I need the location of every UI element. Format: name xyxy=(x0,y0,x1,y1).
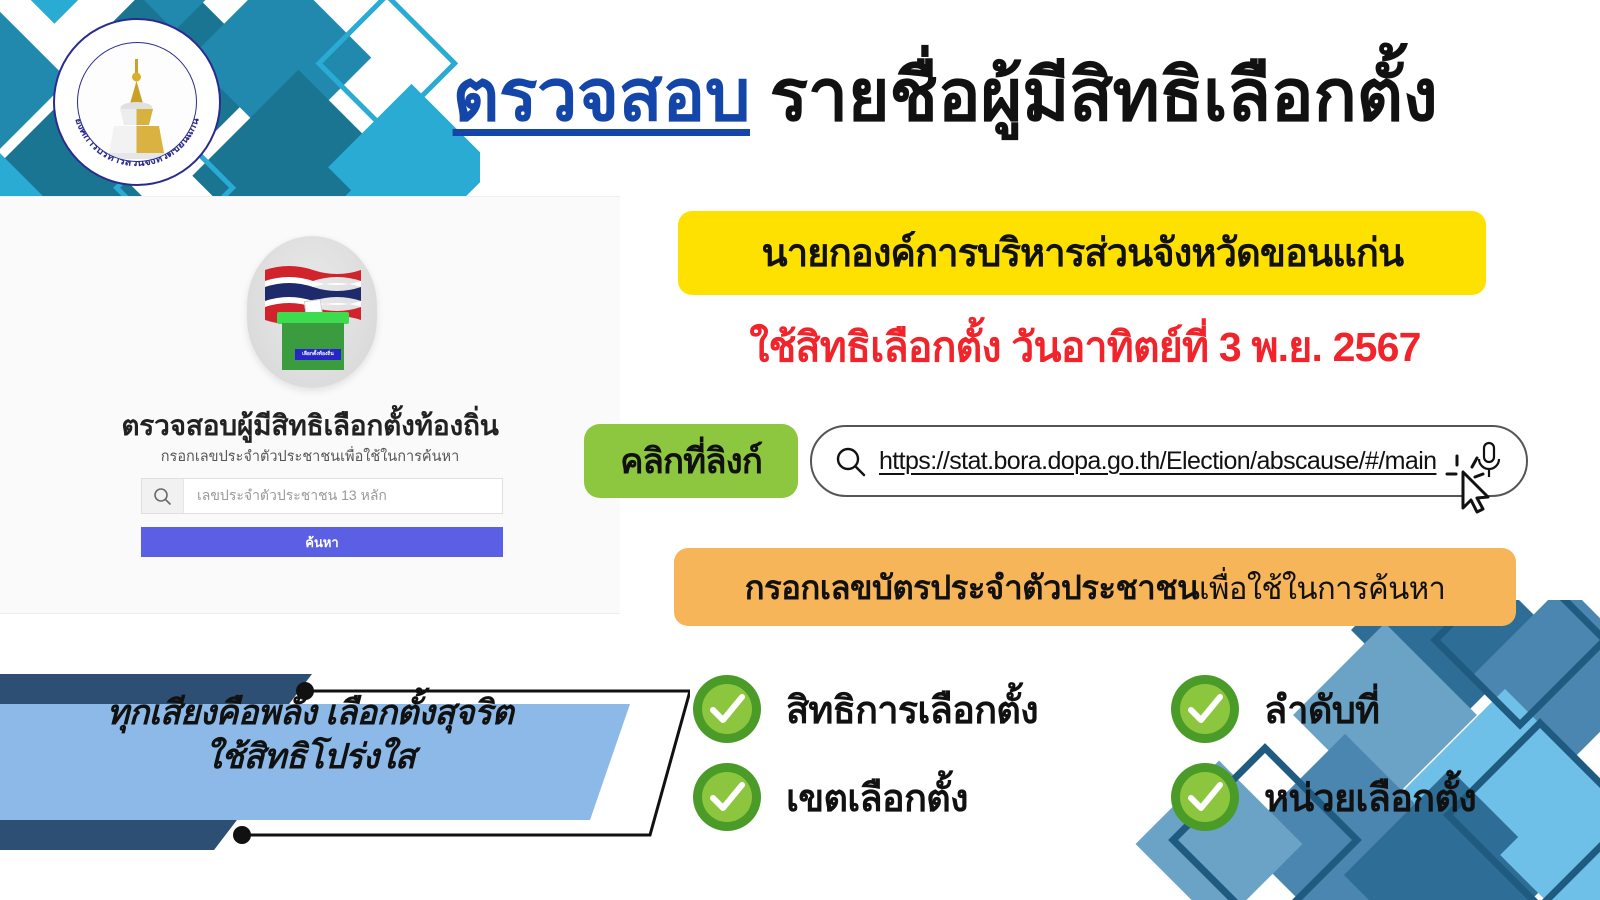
office-banner-label: นายกองค์การบริหารส่วนจังหวัดขอนแก่น xyxy=(761,222,1403,284)
website-mockup: เลือกตั้งท้องถิ่น ตรวจสอบผู้มีสิทธิเลือก… xyxy=(0,196,620,614)
checklist-item-0: สิทธิการเลือกตั้ง xyxy=(690,672,1038,746)
page-title: ตรวจสอบ รายชื่อผู้มีสิทธิเลือกตั้ง xyxy=(300,58,1590,134)
citizen-id-input[interactable]: เลขประจำตัวประชาชน 13 หลัก xyxy=(141,478,503,514)
office-banner: นายกองค์การบริหารส่วนจังหวัดขอนแก่น xyxy=(678,211,1486,295)
logo: องค์การบริหารส่วนจังหวัดขอนแก่น xyxy=(53,18,221,186)
mockup-subtitle: กรอกเลขประจำตัวประชาชนเพื่อใช้ในการค้นหา xyxy=(0,445,620,468)
slogan-text: ทุกเสียงคือพลัง เลือกตั้งสุจริต ใช้สิทธิ… xyxy=(0,692,630,779)
checklist-label: สิทธิการเลือกตั้ง xyxy=(786,679,1038,740)
check-circle-icon xyxy=(690,760,764,834)
mockup-search-button[interactable]: ค้นหา xyxy=(141,527,503,557)
magnifier-icon xyxy=(834,445,867,478)
slogan-banner: ทุกเสียงคือพลัง เลือกตั้งสุจริต ใช้สิทธิ… xyxy=(0,662,690,862)
ballot-label: เลือกตั้งท้องถิ่น xyxy=(295,349,341,360)
page-title-highlight: ตรวจสอบ xyxy=(453,56,750,136)
mockup-title: ตรวจสอบผู้มีสิทธิเลือกตั้งท้องถิ่น xyxy=(0,404,620,448)
browser-url-bar[interactable]: https://stat.bora.dopa.go.th/Election/ab… xyxy=(810,425,1528,497)
citizen-id-placeholder: เลขประจำตัวประชาชน 13 หลัก xyxy=(184,485,387,507)
infographic-canvas: องค์การบริหารส่วนจังหวัดขอนแก่น ตรวจสอบ … xyxy=(0,0,1600,900)
decoration-bottom-right xyxy=(1130,600,1600,900)
checklist-label: เขตเลือกตั้ง xyxy=(786,767,968,828)
slogan-line-2: ใช้สิทธิโปร่งใส xyxy=(0,736,630,780)
ballot-box: เลือกตั้งท้องถิ่น xyxy=(277,312,349,370)
checklist-item-3: หน่วยเลือกตั้ง xyxy=(1168,760,1476,834)
stupa-icon xyxy=(94,57,180,161)
ballot-body: เลือกตั้งท้องถิ่น xyxy=(282,323,344,370)
check-circle-icon xyxy=(1168,760,1242,834)
url-text[interactable]: https://stat.bora.dopa.go.th/Election/ab… xyxy=(879,447,1436,476)
logo-inner-circle xyxy=(77,42,197,162)
checklist-item-1: ลำดับที่ xyxy=(1168,672,1379,746)
instruction-banner: กรอกเลขบัตรประจำตัวประชาชนเพื่อใช้ในการค… xyxy=(674,548,1516,626)
checklist-label: ลำดับที่ xyxy=(1264,679,1379,740)
check-circle-icon xyxy=(690,672,764,746)
mouse-cursor-click-icon xyxy=(1443,452,1513,522)
check-circle-icon xyxy=(1168,672,1242,746)
click-link-badge: คลิกที่ลิงก์ xyxy=(584,424,798,498)
search-icon xyxy=(142,479,184,513)
instruction-bold: กรอกเลขบัตรประจำตัวประชาชน xyxy=(745,569,1199,606)
click-link-label: คลิกที่ลิงก์ xyxy=(620,434,762,489)
instruction-rest: เพื่อใช้ในการค้นหา xyxy=(1199,571,1445,606)
checklist-label: หน่วยเลือกตั้ง xyxy=(1264,767,1476,828)
checklist-item-2: เขตเลือกตั้ง xyxy=(690,760,968,834)
ballot-box-icon: เลือกตั้งท้องถิ่น xyxy=(247,236,377,388)
slogan-line-1: ทุกเสียงคือพลัง เลือกตั้งสุจริต xyxy=(107,694,514,732)
page-title-rest: รายชื่อผู้มีสิทธิเลือกตั้ง xyxy=(750,56,1437,136)
election-date: ใช้สิทธิเลือกตั้ง วันอาทิตย์ที่ 3 พ.ย. 2… xyxy=(648,318,1522,376)
